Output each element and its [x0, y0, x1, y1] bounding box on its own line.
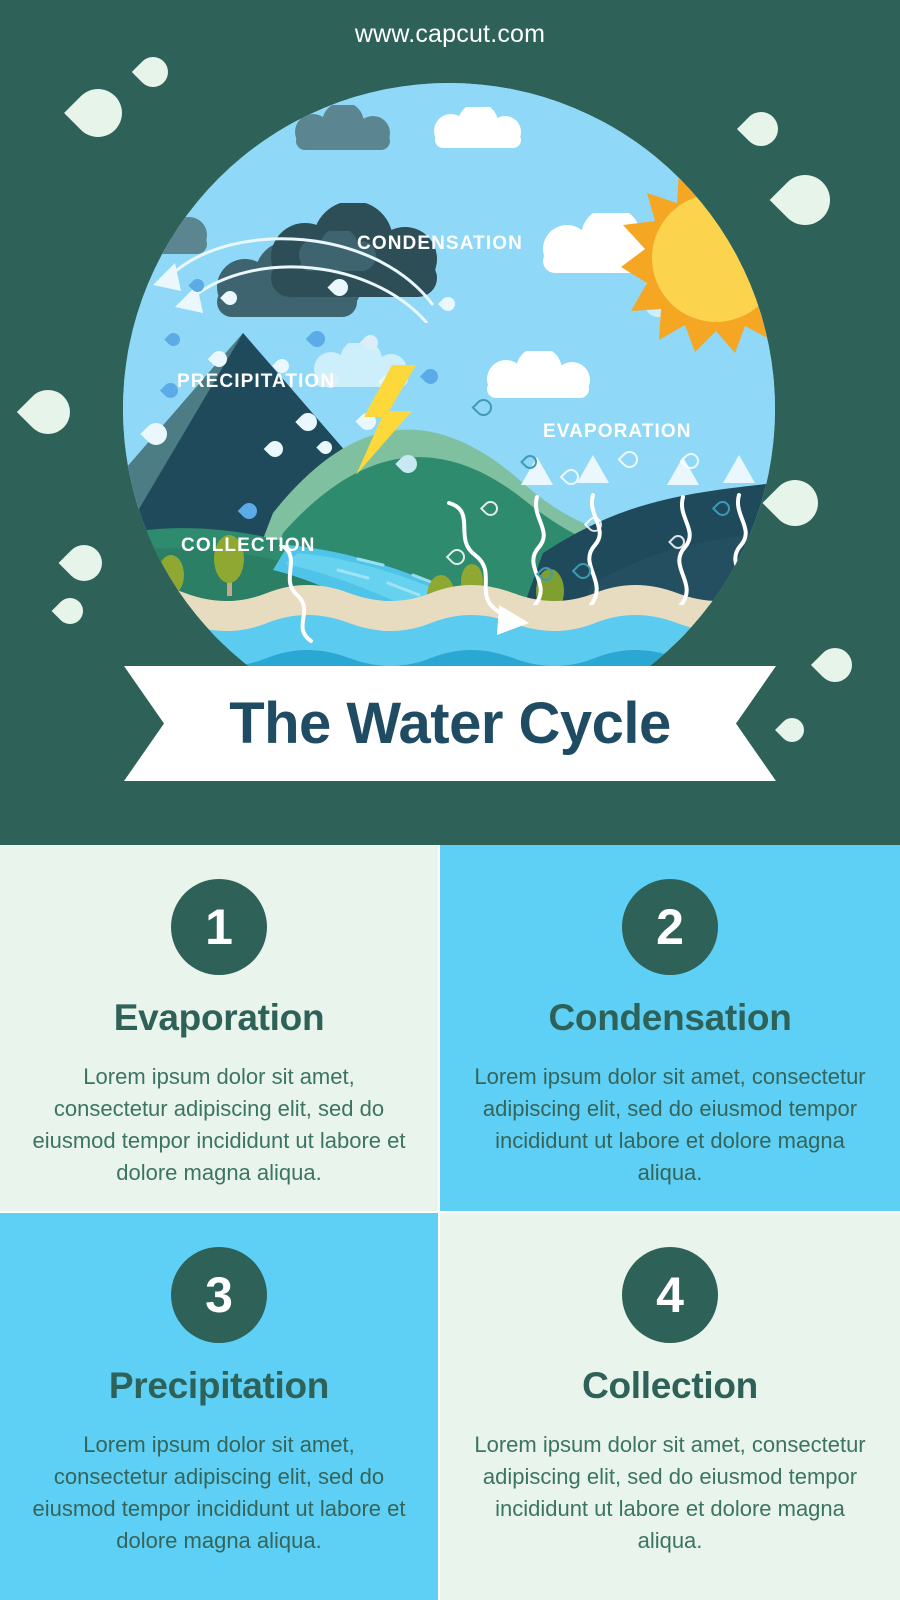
rain-drop-icon: [211, 351, 227, 367]
cloud-icon: [473, 351, 603, 401]
rain-drop-icon: [331, 279, 348, 296]
water-drop-icon: [587, 517, 602, 532]
water-drop-icon: [671, 535, 685, 549]
water-drop-icon: [715, 501, 730, 516]
sun-core: [652, 194, 775, 322]
water-drop-icon: [74, 89, 122, 137]
rain-drop-icon: [145, 423, 167, 445]
storm-cloud-icon: [283, 105, 403, 153]
title-ribbon: The Water Cycle: [124, 666, 776, 781]
rain-drop-icon: [441, 297, 455, 311]
steps-grid: 1 Evaporation Lorem ipsum dolor sit amet…: [0, 845, 900, 1600]
water-drop-icon: [575, 563, 591, 579]
step-card-evaporation[interactable]: 1 Evaporation Lorem ipsum dolor sit amet…: [0, 845, 438, 1211]
rain-drop-icon: [309, 331, 325, 347]
step-number-badge: 4: [622, 1247, 718, 1343]
scene-label-condensation: CONDENSATION: [357, 233, 523, 255]
rain-drop-icon: [223, 291, 237, 305]
scene-label-collection: COLLECTION: [181, 535, 316, 557]
water-drop-icon: [780, 175, 830, 225]
lightning-bolt-icon: [356, 365, 416, 475]
step-number-badge: 1: [171, 879, 267, 975]
step-number-badge: 3: [171, 1247, 267, 1343]
rain-drop-icon: [241, 503, 257, 519]
water-drop-icon: [772, 480, 818, 526]
water-drop-icon: [563, 469, 579, 485]
rain-drop-icon: [191, 279, 204, 292]
step-description: Lorem ipsum dolor sit amet, consectetur …: [26, 1429, 412, 1557]
rain-drop-icon: [319, 441, 332, 454]
rain-drop-icon: [167, 333, 180, 346]
step-title: Precipitation: [109, 1365, 329, 1407]
step-card-collection[interactable]: 4 Collection Lorem ipsum dolor sit amet,…: [440, 1213, 900, 1600]
sun-icon: [621, 163, 775, 353]
water-drop-icon: [57, 598, 83, 624]
step-description: Lorem ipsum dolor sit amet, consectetur …: [470, 1061, 870, 1189]
water-drop-icon: [683, 453, 699, 469]
water-drop-icon: [523, 455, 537, 469]
site-url-text: www.capcut.com: [0, 20, 900, 49]
rain-drop-icon: [363, 335, 378, 350]
water-drop-icon: [26, 390, 70, 434]
step-card-precipitation[interactable]: 3 Precipitation Lorem ipsum dolor sit am…: [0, 1213, 438, 1600]
step-title: Collection: [582, 1365, 758, 1407]
scene-label-evaporation: EVAPORATION: [543, 421, 692, 443]
water-cycle-illustration: CONDENSATION PRECIPITATION EVAPORATION C…: [123, 83, 775, 735]
water-drop-icon: [780, 718, 804, 742]
step-title: Evaporation: [114, 997, 325, 1039]
step-description: Lorem ipsum dolor sit amet, consectetur …: [26, 1061, 412, 1189]
cloud-icon: [423, 107, 533, 149]
water-drop-icon: [621, 451, 638, 468]
collection-flow-icon: [443, 501, 573, 641]
rain-drop-icon: [299, 413, 317, 431]
step-title: Condensation: [548, 997, 791, 1039]
collection-flow-icon: [273, 545, 353, 645]
water-drop-icon: [66, 545, 102, 581]
rain-drop-icon: [423, 369, 438, 384]
page-title: The Water Cycle: [124, 666, 776, 781]
rain-drop-icon: [267, 441, 283, 457]
water-drop-icon: [818, 648, 852, 682]
water-drop-icon: [475, 399, 492, 416]
rain-drop-icon: [163, 383, 178, 398]
scene-label-precipitation: PRECIPITATION: [177, 371, 335, 393]
hero-section: www.capcut.com: [0, 0, 900, 845]
step-number-badge: 2: [622, 879, 718, 975]
step-card-condensation[interactable]: 2 Condensation Lorem ipsum dolor sit ame…: [440, 845, 900, 1211]
step-description: Lorem ipsum dolor sit amet, consectetur …: [470, 1429, 870, 1557]
